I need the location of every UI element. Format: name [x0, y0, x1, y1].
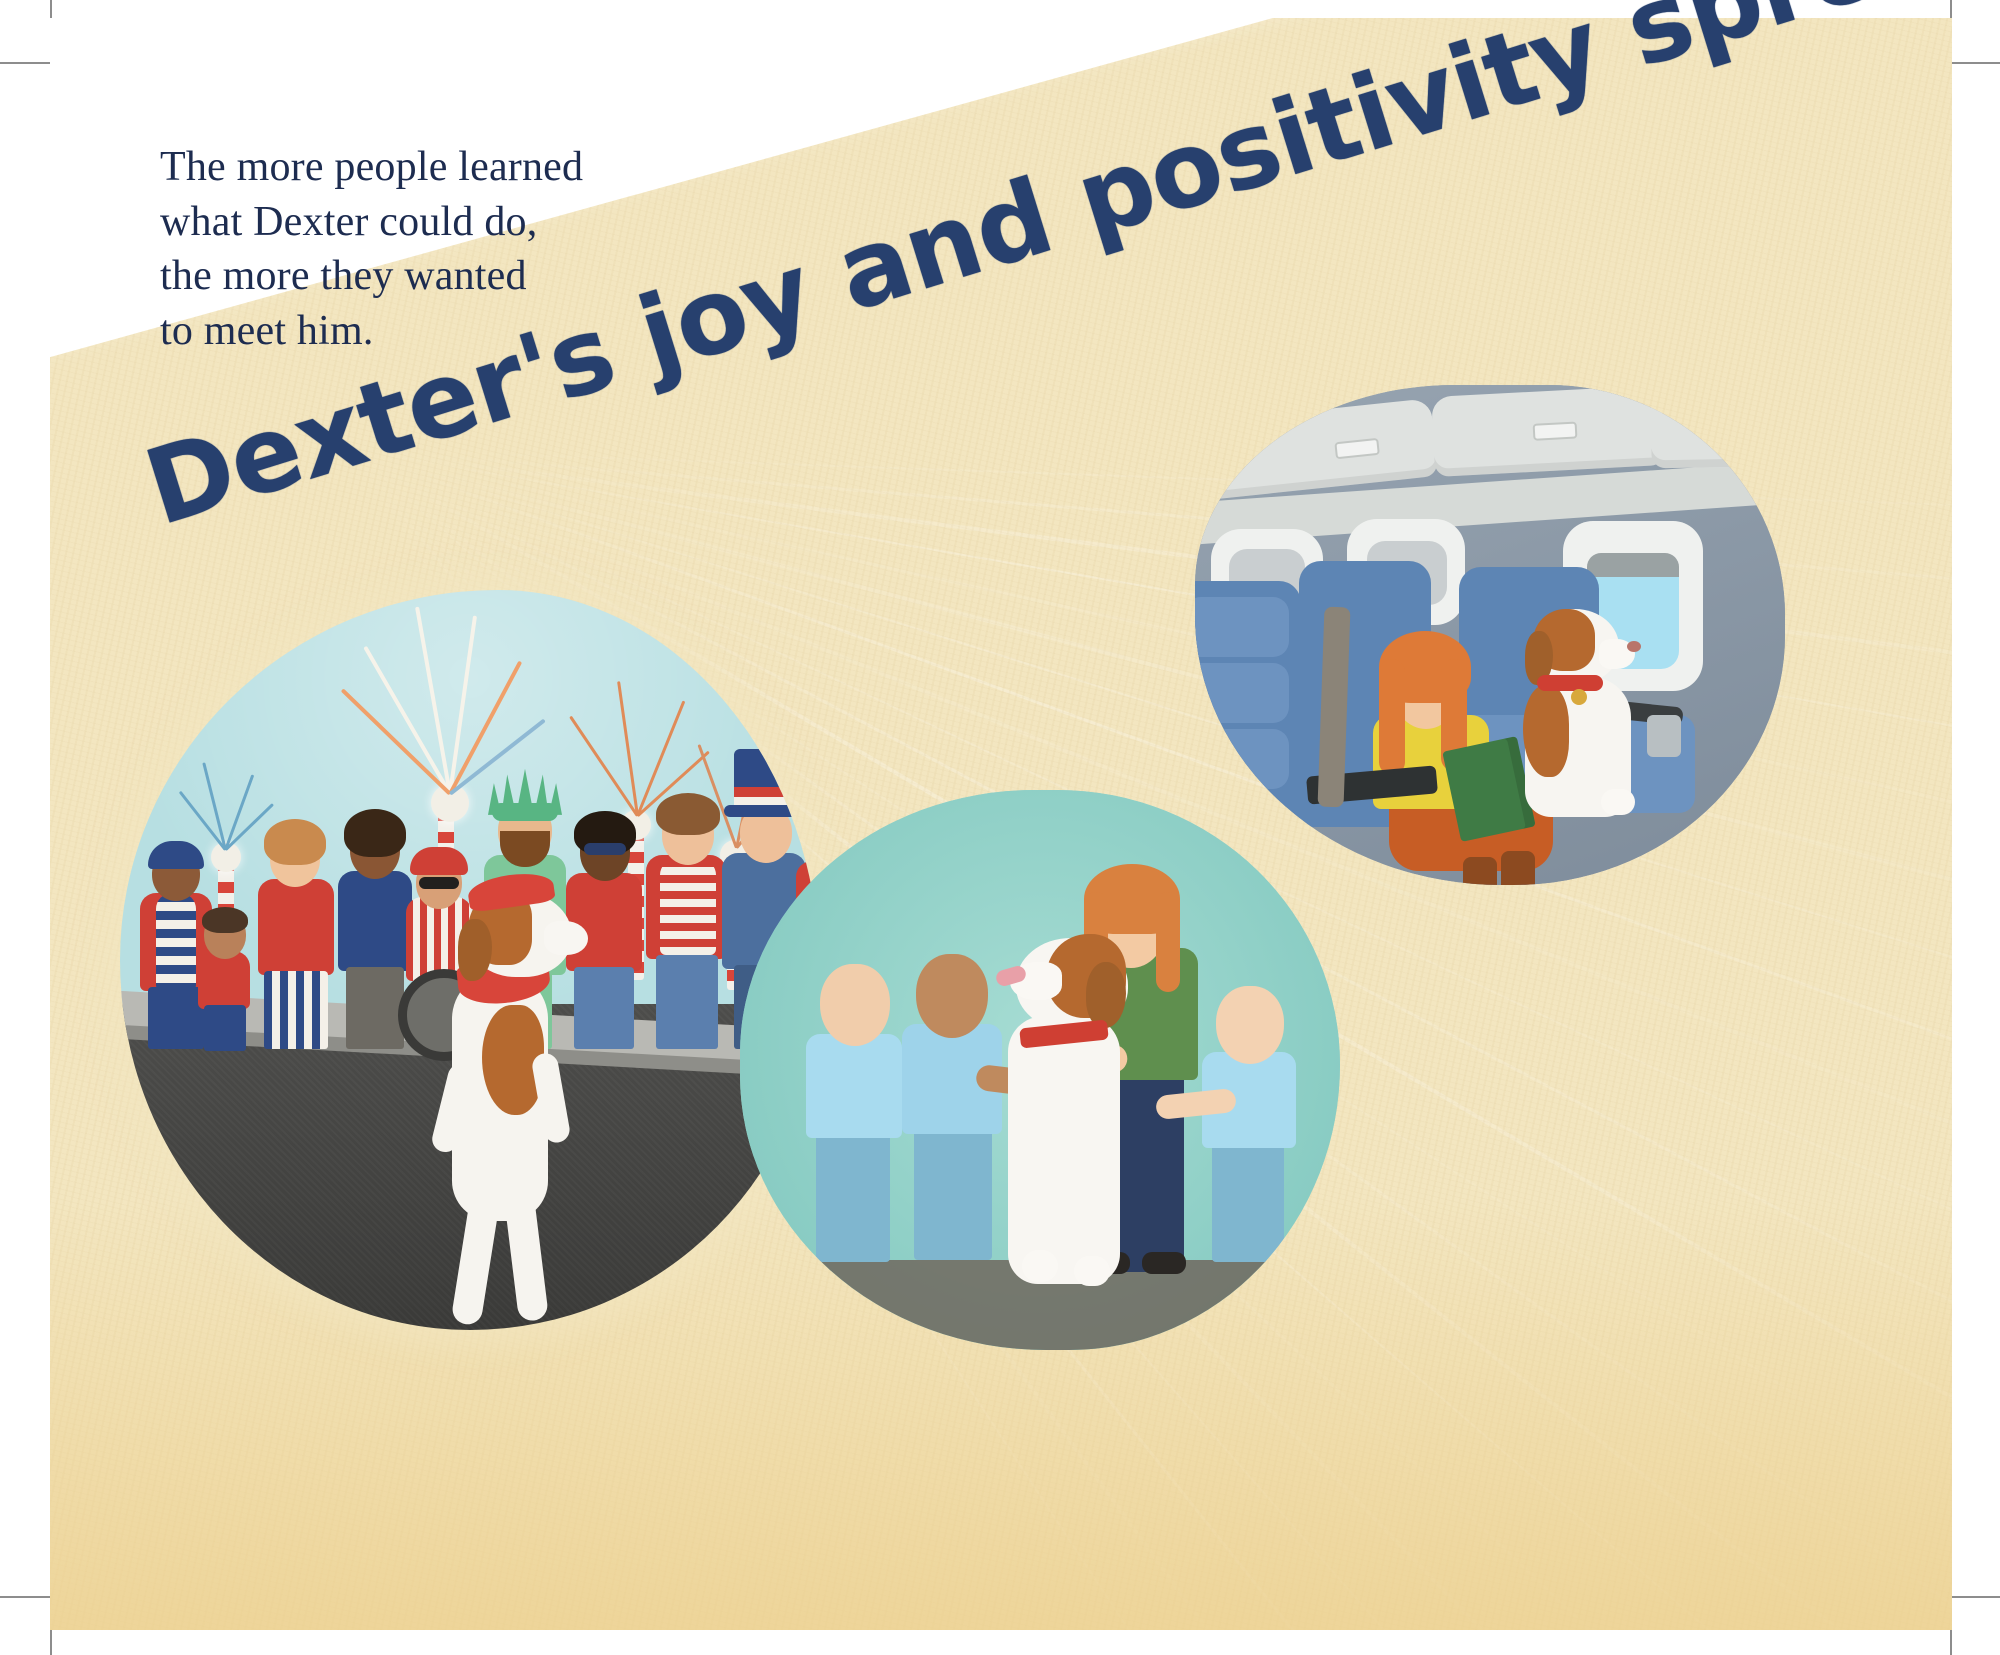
dog-tag-icon — [1571, 689, 1587, 705]
woman-boot — [1463, 857, 1497, 885]
bin-latch-icon — [1533, 421, 1578, 440]
dog-paw — [1074, 1256, 1110, 1286]
dog-ear — [1086, 962, 1126, 1028]
person-legs — [656, 955, 718, 1049]
seat-cushion — [1195, 729, 1289, 789]
dexter-dog-hospital — [990, 920, 1170, 1300]
child-head-bald — [820, 964, 890, 1046]
crowd-person — [250, 799, 342, 1049]
person-hair — [264, 819, 326, 865]
dog-torso — [1008, 1016, 1120, 1284]
child-pants — [914, 1122, 992, 1260]
sunglasses-icon — [584, 843, 626, 855]
dexter-dog-parade — [428, 885, 578, 1315]
person-flag-scarf — [660, 859, 716, 955]
person-torso — [258, 879, 334, 975]
overhead-bin — [1431, 385, 1665, 477]
dog-nose — [1627, 641, 1641, 652]
child-torso — [198, 951, 250, 1009]
child-head-bald — [916, 954, 988, 1038]
seat-cushion — [1195, 597, 1289, 657]
illustration-parade — [120, 590, 820, 1330]
person-stripes — [156, 893, 196, 991]
child-pants — [816, 1126, 890, 1262]
child-head-bald — [1216, 986, 1284, 1064]
woman-boot — [1501, 851, 1535, 885]
child-hair — [202, 907, 248, 933]
dog-paw — [1601, 789, 1635, 815]
person-hat — [410, 847, 468, 875]
woman-hair-side — [1379, 659, 1405, 775]
person-cap — [148, 841, 204, 869]
seat-cushion — [1195, 663, 1289, 723]
window-shade — [1587, 553, 1679, 577]
hospital-child — [1190, 960, 1310, 1260]
liberty-band — [492, 803, 558, 821]
person-hair — [656, 793, 720, 835]
story-line: what Dexter could do, — [160, 195, 720, 250]
story-line: The more people learned — [160, 140, 720, 195]
dog-snout — [544, 921, 588, 955]
dog-coat-patch — [1523, 685, 1569, 777]
dexter-dog-airplane — [1515, 603, 1675, 833]
person-skirt — [264, 971, 328, 1049]
dog-paw — [1022, 1250, 1058, 1282]
crowd-child — [192, 899, 256, 1049]
illustration-airplane — [1195, 385, 1785, 885]
person-legs — [574, 967, 634, 1049]
child-legs — [204, 1005, 246, 1051]
bin-latch-icon — [1334, 438, 1380, 460]
child-pants — [1212, 1136, 1284, 1262]
overhead-bin — [1650, 388, 1785, 469]
dog-collar — [1537, 675, 1603, 691]
